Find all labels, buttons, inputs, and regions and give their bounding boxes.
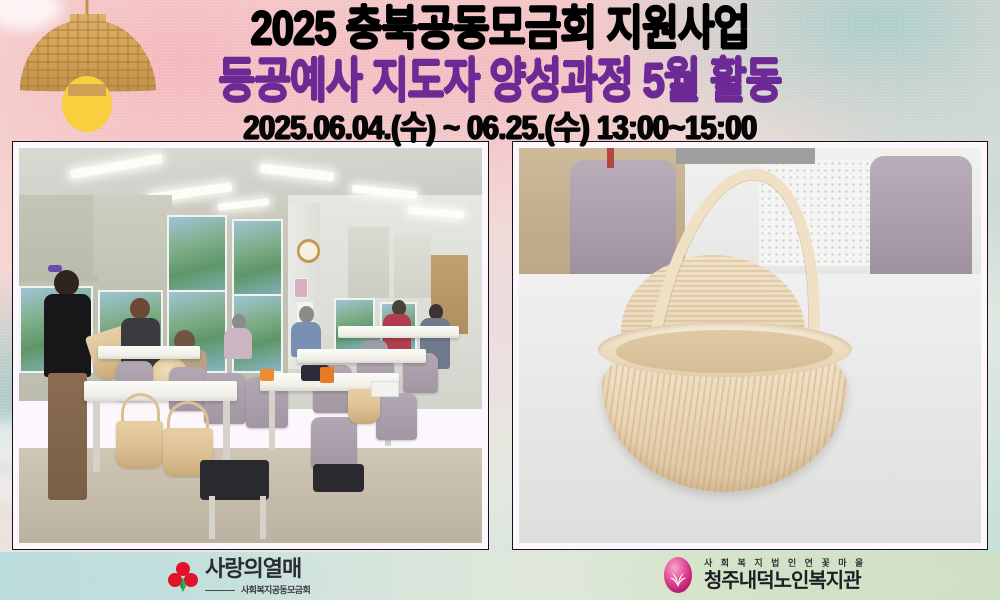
photo-classroom	[19, 148, 482, 543]
logo-community-chest-name: 사랑의열매	[205, 558, 310, 580]
three-fruit-icon	[168, 561, 198, 593]
photo-classroom-frame	[12, 141, 489, 550]
title-line-2: 등공예사 지도자 양성과정 5월 활동	[219, 56, 782, 108]
photo-basket-frame	[512, 141, 988, 550]
title-line-1: 2025 충북공동모금회 지원사업	[250, 4, 749, 55]
photo-finished-basket	[519, 148, 981, 543]
logo-community-chest-sub: 사회복지공동모금회	[205, 583, 310, 596]
lotus-circle-icon	[660, 556, 696, 594]
poster-root: 2025 충북공동모금회 지원사업 등공예사 지도자 양성과정 5월 활동 20…	[0, 0, 1000, 600]
footer-logo-band: 사랑의열매 사회복지공동모금회 사 회 복 지 법 인 연	[0, 552, 1000, 600]
schedule-line: 2025.06.04.(수) ~ 06.25.(수) 13:00~15:00	[243, 111, 756, 147]
logo-cheongju-sub: 사 회 복 지 법 인 연 꽃 마 을	[704, 559, 866, 568]
poster-header: 2025 충북공동모금회 지원사업 등공예사 지도자 양성과정 5월 활동 20…	[0, 0, 1000, 142]
logo-community-chest: 사랑의열매 사회복지공동모금회	[168, 558, 310, 596]
logo-cheongju-center: 사 회 복 지 법 인 연 꽃 마 을 청주내덕노인복지관	[660, 556, 866, 594]
logo-cheongju-name: 청주내덕노인복지관	[704, 571, 861, 591]
